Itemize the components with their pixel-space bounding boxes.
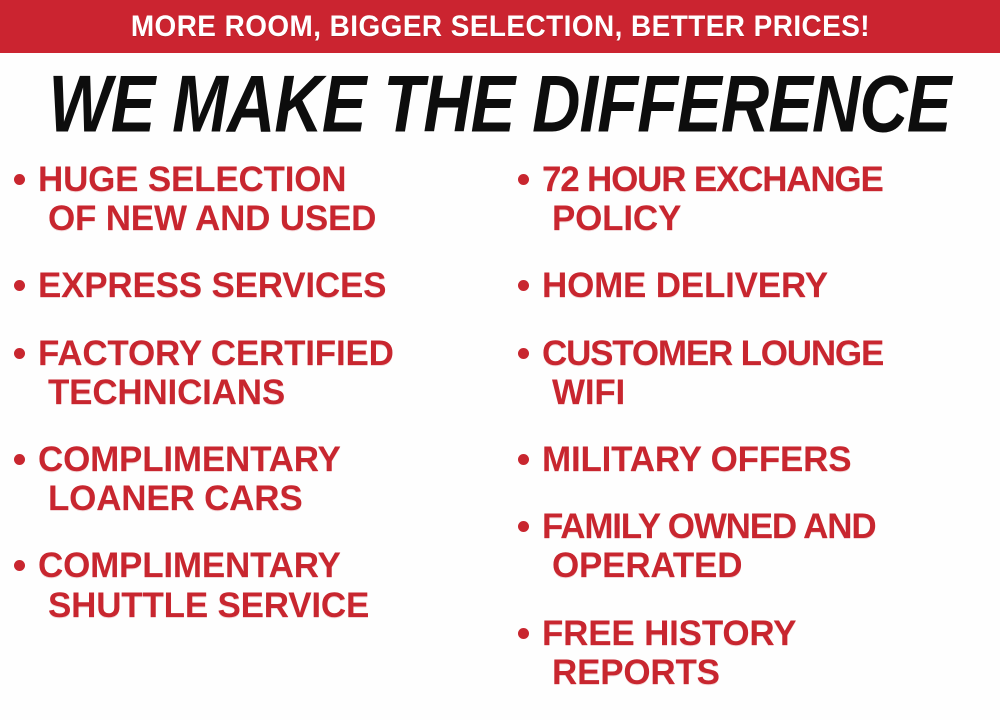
bullet-dot-icon (14, 280, 25, 291)
promo-banner: MORE ROOM, BIGGER SELECTION, BETTER PRIC… (0, 0, 1000, 53)
list-item-line-2: WIFI (542, 373, 883, 412)
list-item: FACTORY CERTIFIED TECHNICIANS (14, 334, 494, 412)
bullet-dot-icon (518, 628, 529, 639)
list-item-line-2: TECHNICIANS (38, 373, 394, 412)
list-item-line-1: FREE HISTORY (542, 614, 796, 653)
list-item-line-1: COMPLIMENTARY (38, 440, 341, 479)
list-item-line-2: POLICY (542, 199, 883, 238)
list-item-line-2: LOANER CARS (38, 479, 341, 518)
list-item-line-2: REPORTS (542, 653, 796, 692)
bullet-dot-icon (14, 454, 25, 465)
bullet-dot-icon (518, 348, 529, 359)
list-item: CUSTOMER LOUNGE WIFI (518, 334, 998, 412)
benefits-columns: HUGE SELECTION OF NEW AND USED EXPRESS S… (0, 160, 1000, 694)
list-item-label: CUSTOMER LOUNGE WIFI (542, 334, 883, 412)
list-item-line-1: HOME DELIVERY (542, 266, 828, 305)
bullet-dot-icon (518, 280, 529, 291)
list-item-line-1: FACTORY CERTIFIED (38, 334, 394, 373)
list-item-label: FREE HISTORY REPORTS (542, 614, 796, 692)
bullet-dot-icon (14, 348, 25, 359)
benefits-column-left: HUGE SELECTION OF NEW AND USED EXPRESS S… (14, 160, 494, 653)
list-item: FAMILY OWNED AND OPERATED (518, 507, 998, 585)
list-item-label: HUGE SELECTION OF NEW AND USED (38, 160, 376, 238)
list-item-label: 72 HOUR EXCHANGE POLICY (542, 160, 883, 238)
list-item-line-1: MILITARY OFFERS (542, 440, 851, 479)
headline-container: WE MAKE THE DIFFERENCE (0, 62, 1000, 148)
benefits-column-right: 72 HOUR EXCHANGE POLICY HOME DELIVERY CU… (518, 160, 998, 720)
list-item-label: EXPRESS SERVICES (38, 266, 386, 305)
list-item-label: HOME DELIVERY (542, 266, 828, 305)
list-item: MILITARY OFFERS (518, 440, 998, 479)
list-item-line-2: SHUTTLE SERVICE (38, 586, 369, 625)
list-item: COMPLIMENTARY LOANER CARS (14, 440, 494, 518)
promo-banner-text: MORE ROOM, BIGGER SELECTION, BETTER PRIC… (130, 12, 869, 42)
list-item-line-1: EXPRESS SERVICES (38, 266, 386, 305)
list-item-line-1: 72 HOUR EXCHANGE (542, 160, 883, 199)
list-item-label: COMPLIMENTARY SHUTTLE SERVICE (38, 546, 369, 624)
list-item: COMPLIMENTARY SHUTTLE SERVICE (14, 546, 494, 624)
list-item-label: FACTORY CERTIFIED TECHNICIANS (38, 334, 394, 412)
list-item: EXPRESS SERVICES (14, 266, 494, 305)
bullet-dot-icon (518, 174, 529, 185)
list-item: FREE HISTORY REPORTS (518, 614, 998, 692)
list-item-line-1: COMPLIMENTARY (38, 546, 369, 585)
list-item-line-2: OF NEW AND USED (38, 199, 376, 238)
list-item-label: MILITARY OFFERS (542, 440, 851, 479)
bullet-dot-icon (518, 521, 529, 532)
bullet-dot-icon (14, 174, 25, 185)
bullet-dot-icon (518, 454, 529, 465)
list-item: HUGE SELECTION OF NEW AND USED (14, 160, 494, 238)
list-item-label: COMPLIMENTARY LOANER CARS (38, 440, 341, 518)
list-item-line-2: OPERATED (542, 546, 875, 585)
bullet-dot-icon (14, 560, 25, 571)
list-item: HOME DELIVERY (518, 266, 998, 305)
list-item: 72 HOUR EXCHANGE POLICY (518, 160, 998, 238)
list-item-line-1: CUSTOMER LOUNGE (542, 334, 883, 373)
list-item-line-1: FAMILY OWNED AND (542, 507, 875, 546)
list-item-line-1: HUGE SELECTION (38, 160, 376, 199)
page-title: WE MAKE THE DIFFERENCE (49, 65, 951, 146)
list-item-label: FAMILY OWNED AND OPERATED (542, 507, 875, 585)
